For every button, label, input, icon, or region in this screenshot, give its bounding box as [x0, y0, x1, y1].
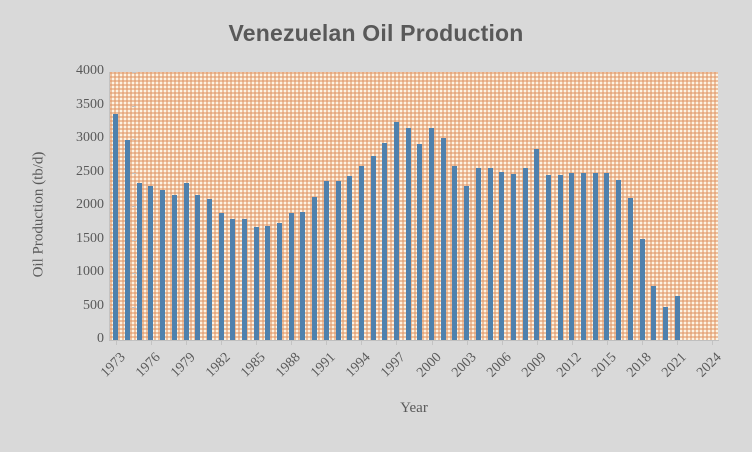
x-tick-mark	[291, 341, 292, 345]
x-tick-mark	[712, 341, 713, 345]
x-tick-mark	[396, 341, 397, 345]
chart-container: Venezuelan Oil Production 40003500300025…	[0, 0, 752, 452]
x-tick-mark	[467, 341, 468, 345]
x-tick-mark	[361, 341, 362, 345]
x-tick-mark	[151, 341, 152, 345]
x-tick-mark	[537, 341, 538, 345]
x-tick-mark	[572, 341, 573, 345]
x-tick-mark	[326, 341, 327, 345]
x-tick-mark	[186, 341, 187, 345]
x-axis-title: Year	[110, 400, 718, 417]
x-tick-mark	[607, 341, 608, 345]
x-tick-mark	[502, 341, 503, 345]
x-axis-ticks: 1973197619791982198519881991199419972000…	[0, 0, 752, 452]
x-tick-mark	[116, 341, 117, 345]
x-tick-mark	[221, 341, 222, 345]
x-tick-mark	[256, 341, 257, 345]
x-tick-mark	[642, 341, 643, 345]
x-tick-mark	[432, 341, 433, 345]
x-tick-mark	[677, 341, 678, 345]
